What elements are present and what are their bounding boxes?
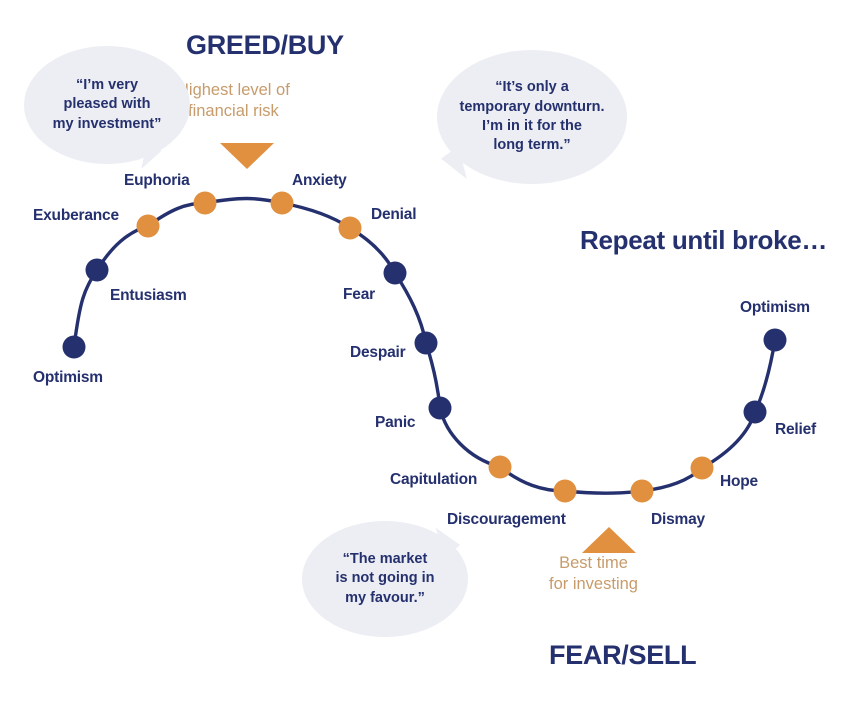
highest-risk-note: Highest level of financial risk — [177, 80, 290, 123]
best-time-line-1: Best time — [549, 553, 638, 574]
cycle-node-label: Dismay — [651, 512, 705, 528]
best-time-note: Best time for investing — [549, 553, 638, 596]
cycle-node-dot — [194, 192, 217, 215]
highest-risk-line-2: financial risk — [177, 101, 290, 122]
cycle-node-label: Despair — [350, 345, 405, 361]
cycle-node-dot — [764, 329, 787, 352]
cycle-node-label: Discouragement — [447, 512, 566, 528]
cycle-node-label: Hope — [720, 474, 758, 490]
cycle-node-dot — [554, 480, 577, 503]
cycle-node-dot — [271, 192, 294, 215]
fear-sell-heading: FEAR/SELL — [549, 640, 696, 671]
cycle-node-label: Optimism — [33, 370, 103, 386]
cycle-node-label: Capitulation — [390, 472, 477, 488]
greed-buy-heading: GREED/BUY — [186, 30, 344, 61]
cycle-node-label: Fear — [343, 287, 375, 303]
cycle-node-dot — [63, 336, 86, 359]
cycle-node-label: Optimism — [740, 300, 810, 316]
cycle-node-dot — [631, 480, 654, 503]
cycle-node-label: Euphoria — [124, 173, 190, 189]
cycle-node-dot — [691, 457, 714, 480]
cycle-node-label: Denial — [371, 207, 416, 223]
speech-bubble-temporary-downturn: “It’s only a temporary downturn. I’m in … — [437, 50, 627, 184]
cycle-node-dot — [744, 401, 767, 424]
cycle-node-dot — [489, 456, 512, 479]
peak-marker-triangle-down-icon — [220, 143, 274, 169]
cycle-node-label: Anxiety — [292, 173, 347, 189]
cycle-node-label: Exuberance — [33, 208, 119, 224]
cycle-node-dot — [137, 215, 160, 238]
repeat-until-broke-heading: Repeat until broke… — [580, 225, 827, 256]
speech-bubble-temporary-downturn-text: “It’s only a temporary downturn. I’m in … — [451, 78, 612, 155]
speech-bubble-pleased: “I’m very pleased with my investment” — [24, 46, 190, 164]
trough-marker-triangle-up-icon — [582, 527, 636, 553]
cycle-node-dot — [415, 332, 438, 355]
best-time-line-2: for investing — [549, 574, 638, 595]
cycle-node-label: Entusiasm — [110, 288, 187, 304]
speech-bubble-market-not-going-text: “The market is not going in my favour.” — [327, 550, 442, 608]
cycle-node-dot — [86, 259, 109, 282]
cycle-node-label: Panic — [375, 415, 415, 431]
highest-risk-line-1: Highest level of — [177, 80, 290, 101]
speech-bubble-pleased-text: “I’m very pleased with my investment” — [45, 76, 170, 134]
cycle-node-dot — [384, 262, 407, 285]
cycle-node-dot — [429, 397, 452, 420]
cycle-node-label: Relief — [775, 422, 816, 438]
cycle-node-dot — [339, 217, 362, 240]
market-psychology-diagram: OptimismEntusiasmExuberanceEuphoriaAnxie… — [0, 0, 850, 708]
